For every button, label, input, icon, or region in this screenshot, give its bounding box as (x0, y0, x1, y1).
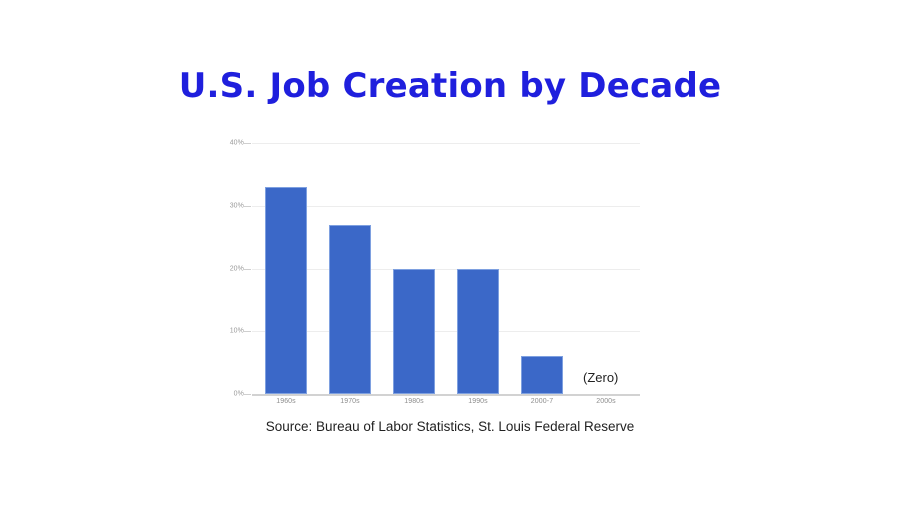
bar-slot: 2000-7 (510, 143, 574, 394)
bar-slot: 1980s (382, 143, 446, 394)
bar[interactable] (265, 187, 307, 394)
y-tick-mark (244, 331, 251, 332)
x-tick-label: 2000s (574, 398, 638, 405)
y-tick-label: 30% (204, 202, 244, 209)
bar[interactable] (393, 269, 435, 395)
bar[interactable] (329, 225, 371, 394)
slide-canvas: U.S. Job Creation by Decade 0%10%20%30%4… (0, 0, 900, 506)
bar-slot: 1960s (254, 143, 318, 394)
x-tick-label: 1970s (318, 398, 382, 405)
bar-slot: 1970s (318, 143, 382, 394)
y-tick-mark (244, 394, 251, 395)
y-tick-mark (244, 206, 251, 207)
y-tick-mark (244, 143, 251, 144)
bar-series: 1960s1970s1980s1990s2000-72000s (252, 143, 640, 394)
zero-annotation: (Zero) (583, 370, 618, 385)
bar-slot: 1990s (446, 143, 510, 394)
x-tick-label: 1990s (446, 398, 510, 405)
page-title: U.S. Job Creation by Decade (0, 66, 900, 106)
y-tick-label: 0% (204, 391, 244, 398)
bar-chart: 0%10%20%30%40% 1960s1970s1980s1990s2000-… (225, 135, 645, 410)
y-tick-label: 20% (204, 265, 244, 272)
y-tick-label: 10% (204, 328, 244, 335)
plot-area: 0%10%20%30%40% 1960s1970s1980s1990s2000-… (252, 143, 640, 394)
gridline (252, 394, 640, 396)
bar[interactable] (457, 269, 499, 395)
bar-slot: 2000s (574, 143, 638, 394)
source-caption: Source: Bureau of Labor Statistics, St. … (0, 419, 900, 434)
y-tick-mark (244, 269, 251, 270)
x-tick-label: 2000-7 (510, 398, 574, 405)
x-tick-label: 1980s (382, 398, 446, 405)
x-tick-label: 1960s (254, 398, 318, 405)
y-tick-label: 40% (204, 140, 244, 147)
bar[interactable] (521, 356, 563, 394)
